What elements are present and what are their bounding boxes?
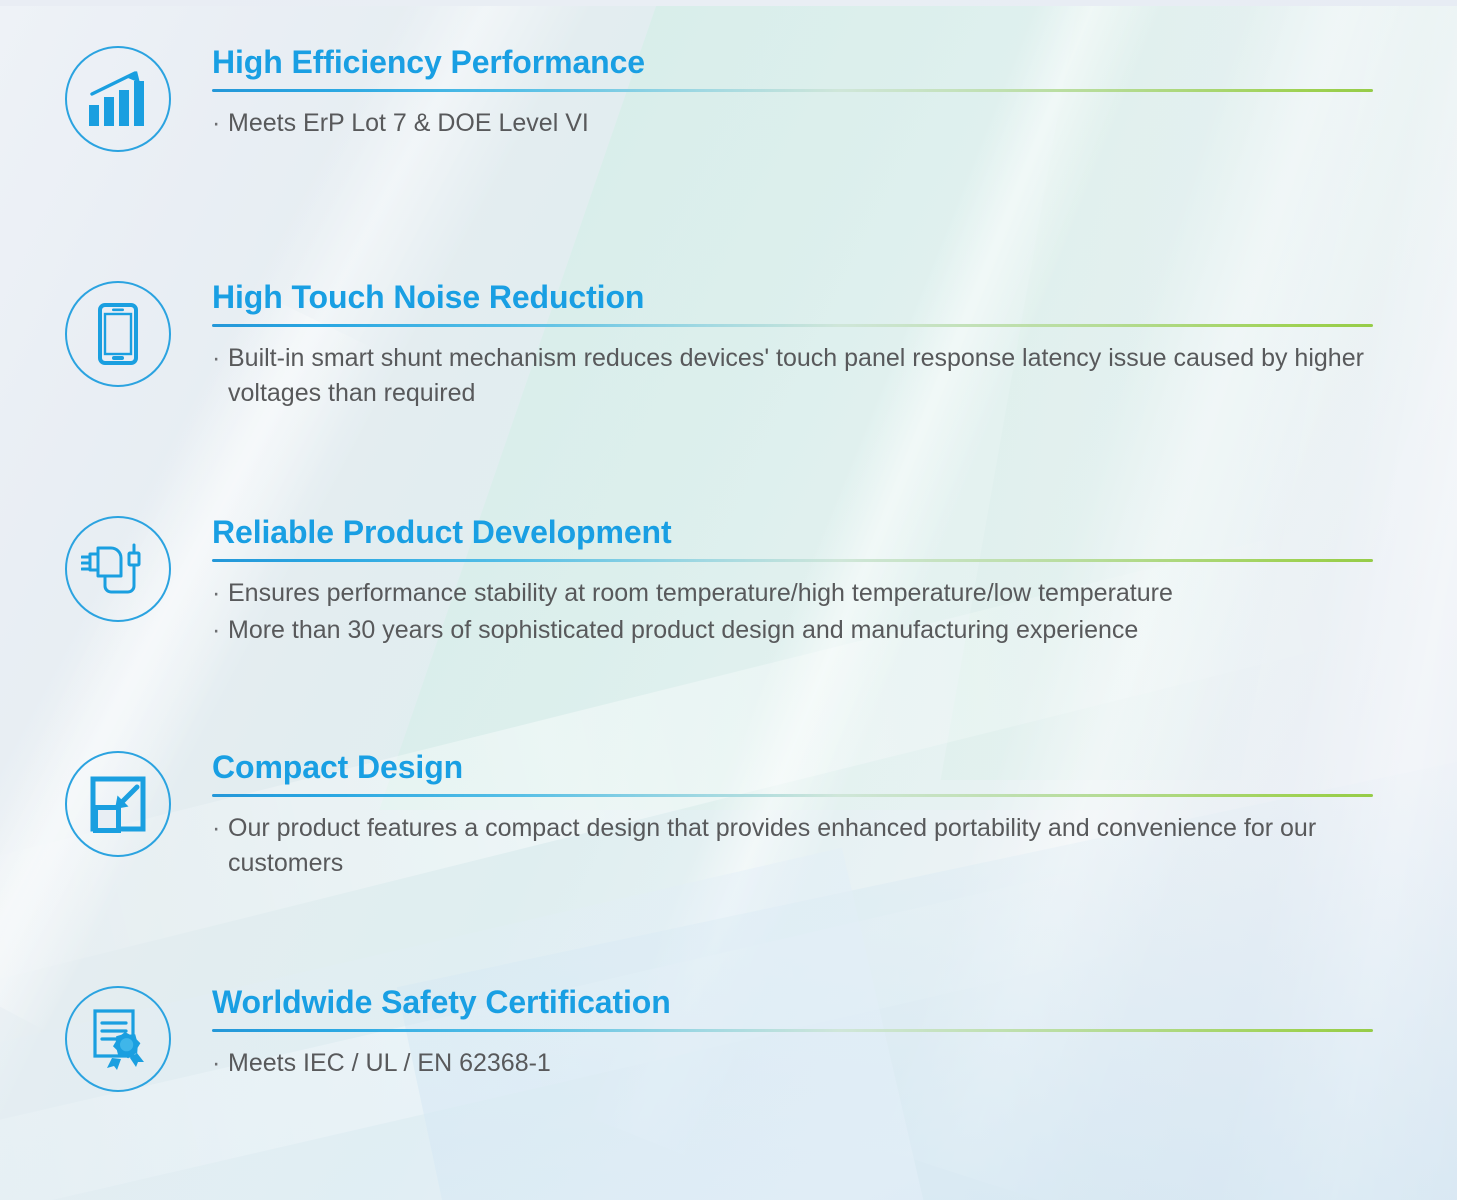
bullet-text: Built-in smart shunt mechanism reduces d…: [228, 341, 1373, 412]
feature-bullets: · Ensures performance stability at room …: [212, 576, 1373, 649]
feature-divider: [212, 559, 1373, 562]
bullet-text: Meets ErP Lot 7 & DOE Level VI: [228, 106, 1373, 142]
feature-bullets: · Meets ErP Lot 7 & DOE Level VI: [212, 106, 1373, 142]
feature-bullet: · More than 30 years of sophisticated pr…: [212, 613, 1373, 649]
feature-bullets: · Built-in smart shunt mechanism reduces…: [212, 341, 1373, 412]
feature-bullet: · Built-in smart shunt mechanism reduces…: [212, 341, 1373, 412]
icon-circle: [65, 751, 171, 857]
bullet-text: More than 30 years of sophisticated prod…: [228, 613, 1373, 649]
feature-icon-wrap: [57, 46, 179, 152]
feature-icon-wrap: [57, 986, 179, 1092]
feature-text-column: Reliable Product Development · Ensures p…: [212, 516, 1457, 649]
feature-text-column: Worldwide Safety Certification · Meets I…: [212, 986, 1457, 1081]
feature-bullet: · Ensures performance stability at room …: [212, 576, 1373, 612]
features-container: High Efficiency Performance · Meets ErP …: [0, 0, 1457, 1200]
feature-divider: [212, 324, 1373, 327]
bullet-marker: ·: [212, 1046, 228, 1082]
feature-title: Compact Design: [212, 751, 1373, 785]
icon-circle: [65, 516, 171, 622]
resize-compact-icon: [89, 775, 147, 833]
feature-item-reliable-product-development: Reliable Product Development · Ensures p…: [0, 516, 1457, 649]
feature-bullets: · Meets IEC / UL / EN 62368-1: [212, 1046, 1373, 1082]
feature-icon-wrap: [57, 751, 179, 857]
feature-divider: [212, 794, 1373, 797]
bar-chart-growth-icon: [87, 70, 149, 128]
icon-circle: [65, 986, 171, 1092]
feature-divider: [212, 1029, 1373, 1032]
feature-item-high-touch-noise-reduction: High Touch Noise Reduction · Built-in sm…: [0, 281, 1457, 412]
bullet-marker: ·: [212, 576, 228, 612]
feature-text-column: High Touch Noise Reduction · Built-in sm…: [212, 281, 1457, 412]
feature-item-compact-design: Compact Design · Our product features a …: [0, 751, 1457, 882]
feature-bullet: · Meets IEC / UL / EN 62368-1: [212, 1046, 1373, 1082]
feature-list-page: High Efficiency Performance · Meets ErP …: [0, 0, 1457, 1200]
feature-bullet: · Our product features a compact design …: [212, 811, 1373, 882]
icon-circle: [65, 281, 171, 387]
bullet-text: Meets IEC / UL / EN 62368-1: [228, 1046, 1373, 1082]
feature-title: Reliable Product Development: [212, 516, 1373, 550]
feature-text-column: Compact Design · Our product features a …: [212, 751, 1457, 882]
bullet-marker: ·: [212, 811, 228, 847]
feature-divider: [212, 89, 1373, 92]
feature-title: High Efficiency Performance: [212, 46, 1373, 80]
feature-icon-wrap: [57, 281, 179, 387]
bullet-marker: ·: [212, 106, 228, 142]
icon-circle: [65, 46, 171, 152]
bullet-marker: ·: [212, 613, 228, 649]
feature-bullets: · Our product features a compact design …: [212, 811, 1373, 882]
feature-item-high-efficiency-performance: High Efficiency Performance · Meets ErP …: [0, 46, 1457, 152]
feature-title: High Touch Noise Reduction: [212, 281, 1373, 315]
feature-text-column: High Efficiency Performance · Meets ErP …: [212, 46, 1457, 141]
bullet-marker: ·: [212, 341, 228, 377]
feature-item-worldwide-safety-certification: Worldwide Safety Certification · Meets I…: [0, 986, 1457, 1092]
bullet-text: Ensures performance stability at room te…: [228, 576, 1373, 612]
smartphone-icon: [98, 303, 138, 365]
feature-title: Worldwide Safety Certification: [212, 986, 1373, 1020]
feature-icon-wrap: [57, 516, 179, 622]
feature-bullet: · Meets ErP Lot 7 & DOE Level VI: [212, 106, 1373, 142]
power-adapter-icon: [81, 538, 155, 600]
certificate-seal-icon: [88, 1008, 148, 1070]
bullet-text: Our product features a compact design th…: [228, 811, 1373, 882]
